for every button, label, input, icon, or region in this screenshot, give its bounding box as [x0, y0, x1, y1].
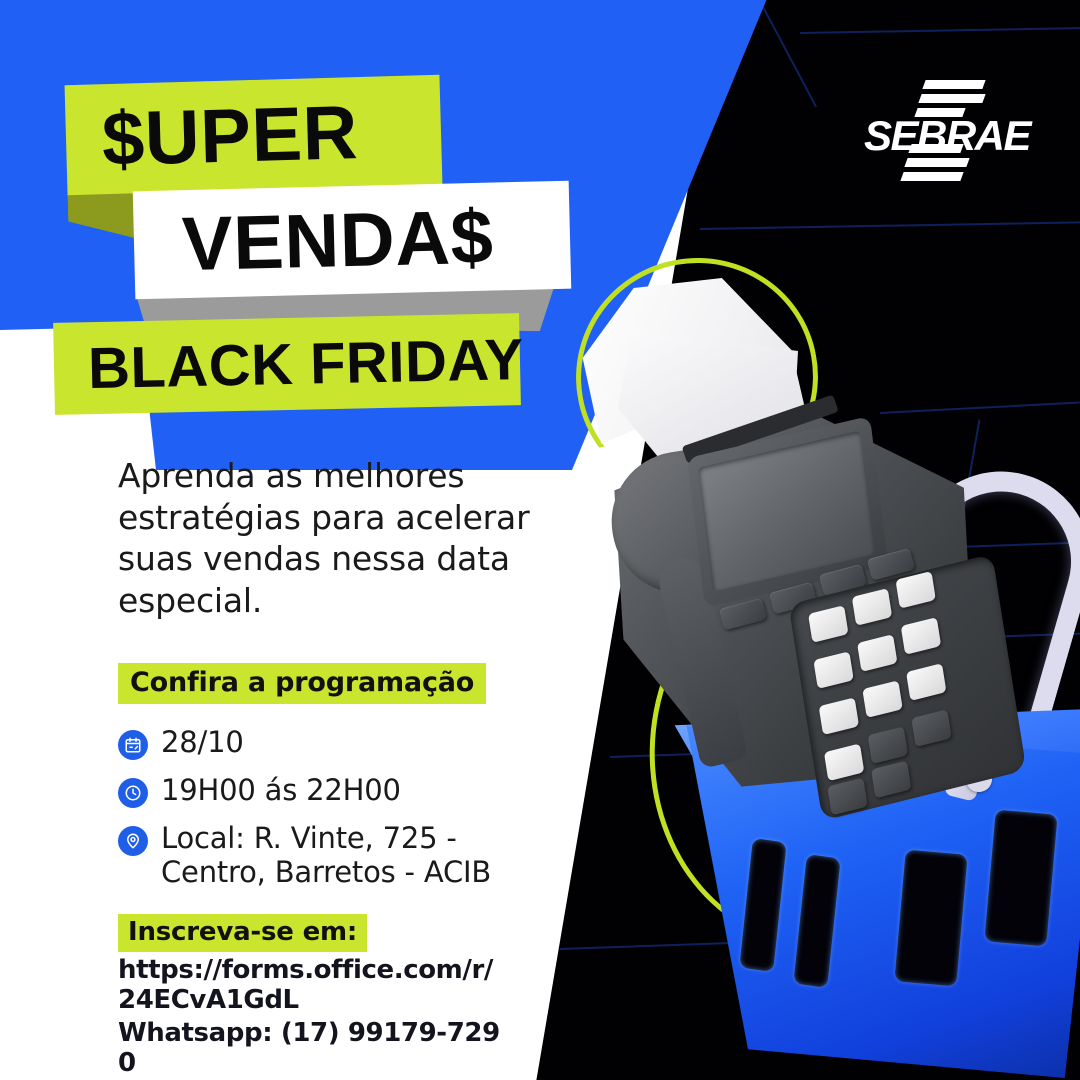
- basket-slot: [894, 850, 967, 987]
- logo-bar-icon: [900, 172, 963, 181]
- basket-slot: [984, 810, 1057, 947]
- terminal-key: [813, 651, 853, 689]
- terminal-key: [911, 709, 951, 747]
- terminal-key: [819, 697, 859, 735]
- schedule-date: 28/10: [161, 726, 244, 760]
- sebrae-logo-text: SEBRAE: [862, 112, 1032, 160]
- lede-paragraph: Aprenda as melhores estratégias para ace…: [118, 455, 548, 621]
- card-payment-terminal: [581, 359, 1043, 821]
- schedule-time: 19H00 ás 22H00: [161, 774, 401, 808]
- headline-vendas: VENDA$: [133, 181, 572, 300]
- signup-whatsapp[interactable]: Whatsapp: (17) 99179-7290: [118, 1018, 510, 1078]
- terminal-key: [901, 617, 941, 655]
- signup-block: Inscreva-se em: https://forms.office.com…: [118, 914, 548, 1079]
- headline-super: $UPER: [65, 75, 443, 195]
- list-item: 19H00 ás 22H00: [118, 774, 548, 808]
- clock-icon: [118, 778, 148, 808]
- terminal-key: [868, 726, 908, 764]
- terminal-key: [852, 588, 892, 626]
- logo-bar-icon: [922, 80, 985, 89]
- signup-url[interactable]: https://forms.office.com/r/24ECvA1GdL: [118, 955, 510, 1015]
- poster-canvas: $UPER VENDA$ BLACK FRIDAY SEBRAE Aprenda…: [0, 0, 1080, 1080]
- list-item: 28/10: [118, 726, 548, 760]
- list-item: Local: R. Vinte, 725 - Centro, Barretos …: [118, 822, 548, 889]
- schedule-heading: Confira a programação: [118, 663, 486, 704]
- schedule-list: 28/10 19H00 ás 22H00 L: [118, 726, 548, 889]
- terminal-key: [824, 743, 864, 781]
- terminal-key: [906, 663, 946, 701]
- signup-heading: Inscreva-se em:: [118, 914, 367, 952]
- calendar-icon: [118, 730, 148, 760]
- logo-bar-icon: [918, 94, 985, 103]
- terminal-key: [871, 761, 911, 799]
- terminal-key: [895, 571, 935, 609]
- location-pin-icon: [118, 826, 148, 856]
- terminal-key: [857, 634, 897, 672]
- terminal-key: [808, 605, 848, 643]
- content-column: Aprenda as melhores estratégias para ace…: [118, 455, 548, 1078]
- headline-black-friday: BLACK FRIDAY: [53, 313, 521, 415]
- sebrae-logo: SEBRAE: [862, 78, 1032, 188]
- terminal-key: [827, 778, 867, 816]
- terminal-key: [862, 680, 902, 718]
- schedule-location: Local: R. Vinte, 725 - Centro, Barretos …: [161, 822, 548, 889]
